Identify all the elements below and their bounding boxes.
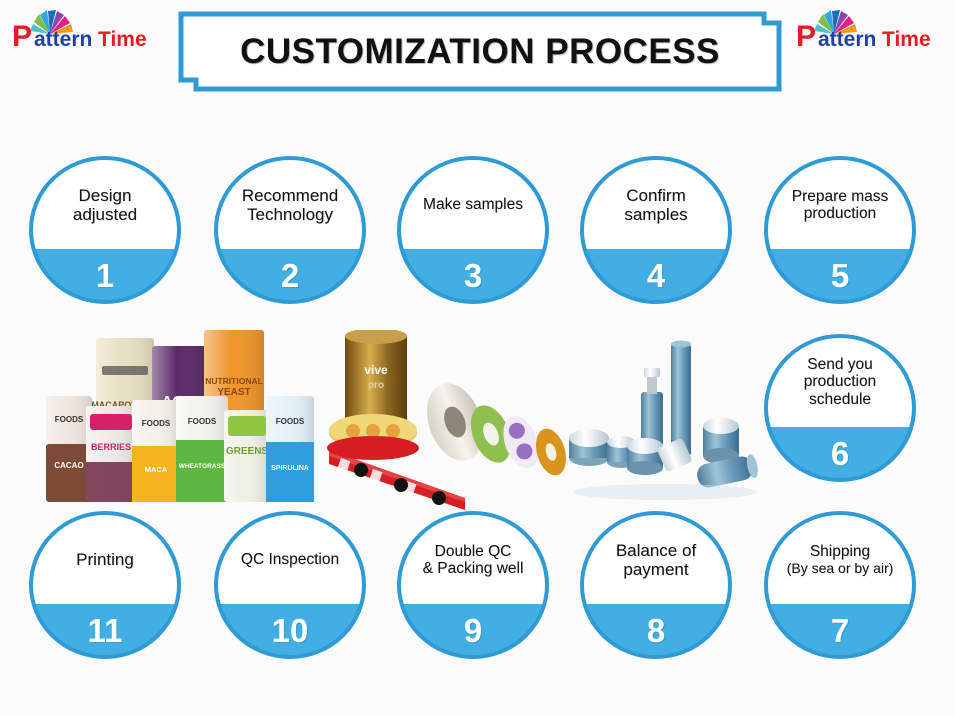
step-label: RecommendTechnology [220,174,360,236]
svg-text:FOODS: FOODS [188,417,217,426]
step-5[interactable]: Prepare massproduction 5 [762,154,918,306]
svg-text:vive: vive [364,363,388,377]
step-number: 9 [395,609,551,653]
logo-text-time: Time [882,28,931,51]
step-number: 3 [395,254,551,298]
patterntime-logo-right: P attern Time [790,8,950,56]
step-number: 5 [762,254,918,298]
step-6[interactable]: Send youproductionschedule 6 [762,332,918,484]
svg-text:pro: pro [368,380,384,391]
step-number: 7 [762,609,918,653]
patterntime-logo-left: P attern Time [6,8,166,56]
step-2[interactable]: RecommendTechnology 2 [212,154,368,306]
step-number: 8 [578,609,734,653]
step-label: Designadjusted [35,174,175,236]
svg-text:SPIRULINA: SPIRULINA [271,465,309,472]
step-label: Prepare massproduction [770,174,910,236]
logo-text-time: Time [98,28,147,51]
step-label: Balance ofpayment [586,529,726,591]
step-number: 6 [762,432,918,476]
svg-text:CACAO: CACAO [54,461,83,470]
step-label: Make samples [403,174,543,236]
cosmetic-containers-photo [565,330,765,510]
svg-text:WHEATGRASS: WHEATGRASS [179,463,226,470]
svg-text:FOODS: FOODS [55,415,84,424]
page-title-box: CUSTOMIZATION PROCESS [178,11,782,92]
step-3[interactable]: Make samples 3 [395,154,551,306]
step-1[interactable]: Designadjusted 1 [27,154,183,306]
step-9[interactable]: Double QC& Packing well 9 [395,509,551,661]
step-label: QC Inspection [220,529,360,591]
step-number: 2 [212,254,368,298]
step-label: Double QC& Packing well [403,529,543,591]
logo-letter-p: P [796,20,816,53]
logo-letter-p: P [12,20,32,53]
step-number: 10 [212,609,368,653]
step-label: Shipping(By sea or by air) [770,529,910,591]
step-label: Send youproductionschedule [770,346,910,418]
customization-process-infographic: P attern Time P attern Time CUSTOMIZATIO [0,0,955,716]
product-pouches-photo: MACAPOWDER ACAI NUTRITIONAL YEAST FOODS … [34,322,324,510]
step-4[interactable]: Confirmsamples 4 [578,154,734,306]
step-label: Printing [35,529,175,591]
logo-text-attern: attern [818,28,876,51]
step-label: Confirmsamples [586,174,726,236]
label-rolls-photo: vive pro [315,330,575,510]
step-7[interactable]: Shipping(By sea or by air) 7 [762,509,918,661]
logo-text-attern: attern [34,28,92,51]
svg-text:GREENS: GREENS [226,446,269,457]
step-8[interactable]: Balance ofpayment 8 [578,509,734,661]
svg-text:FOODS: FOODS [276,417,305,426]
svg-text:NUTRITIONAL: NUTRITIONAL [205,376,263,386]
step-number: 1 [27,254,183,298]
step-number: 4 [578,254,734,298]
step-number: 11 [27,609,183,653]
step-11[interactable]: Printing 11 [27,509,183,661]
page-title: CUSTOMIZATION PROCESS [178,11,782,92]
svg-text:BERRIES: BERRIES [91,442,131,452]
svg-text:MACA: MACA [145,465,168,474]
svg-text:FOODS: FOODS [142,419,171,428]
step-10[interactable]: QC Inspection 10 [212,509,368,661]
